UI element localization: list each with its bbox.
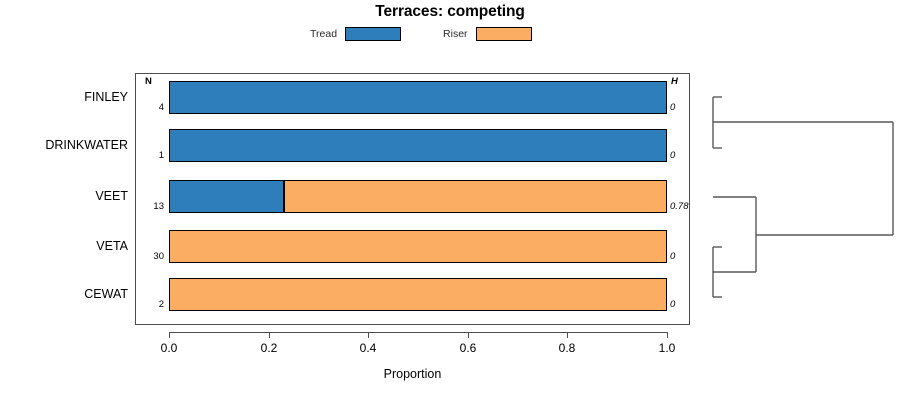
legend-item-tread: Tread xyxy=(310,27,401,41)
bar-row xyxy=(169,278,667,311)
x-axis-tick xyxy=(368,332,369,338)
h-value: 0 xyxy=(670,299,675,310)
legend-label-riser: Riser xyxy=(443,28,468,40)
n-value: 13 xyxy=(140,201,164,212)
x-axis-tick xyxy=(468,332,469,338)
x-axis-tick-label: 0.0 xyxy=(149,341,189,355)
category-label: DRINKWATER xyxy=(0,138,128,152)
bar-segment-tread xyxy=(169,129,667,162)
legend-swatch-riser xyxy=(476,27,532,41)
h-value: 0 xyxy=(670,150,675,161)
bar-row xyxy=(169,180,667,213)
bar-segment-riser xyxy=(169,278,667,311)
legend-label-tread: Tread xyxy=(310,28,337,40)
x-axis-tick xyxy=(269,332,270,338)
n-value: 4 xyxy=(140,102,164,113)
bar-segment-riser xyxy=(284,180,667,213)
bar-row xyxy=(169,81,667,114)
chart-canvas: Terraces: competing Tread Riser FINLEYDR… xyxy=(0,0,900,400)
x-axis-tick-label: 1.0 xyxy=(647,341,687,355)
bar-segment-riser xyxy=(169,230,667,263)
category-label: CEWAT xyxy=(0,287,128,301)
n-value: 2 xyxy=(140,299,164,310)
x-axis-tick xyxy=(567,332,568,338)
x-axis-tick-label: 0.8 xyxy=(547,341,587,355)
chart-legend: Tread Riser xyxy=(310,26,532,42)
x-axis-tick-label: 0.6 xyxy=(448,341,488,355)
n-value: 1 xyxy=(140,150,164,161)
category-label: VEET xyxy=(0,189,128,203)
bar-row xyxy=(169,129,667,162)
x-axis-tick-label: 0.4 xyxy=(348,341,388,355)
x-axis-tick xyxy=(667,332,668,338)
legend-spacer xyxy=(401,34,443,35)
x-axis-tick xyxy=(169,332,170,338)
h-value: 0.78 xyxy=(670,201,689,212)
category-label: FINLEY xyxy=(0,90,128,104)
x-axis-tick-label: 0.2 xyxy=(249,341,289,355)
x-axis-title: Proportion xyxy=(0,367,825,381)
h-column-header: H xyxy=(671,76,678,87)
chart-title: Terraces: competing xyxy=(0,3,900,21)
legend-swatch-tread xyxy=(345,27,401,41)
bar-row xyxy=(169,230,667,263)
bar-segment-tread xyxy=(169,180,284,213)
legend-item-riser: Riser xyxy=(443,27,532,41)
h-value: 0 xyxy=(670,102,675,113)
h-value: 0 xyxy=(670,251,675,262)
n-value: 30 xyxy=(140,251,164,262)
x-axis-line xyxy=(169,332,667,333)
bar-segment-tread xyxy=(169,81,667,114)
category-label: VETA xyxy=(0,239,128,253)
n-column-header: N xyxy=(145,76,152,87)
